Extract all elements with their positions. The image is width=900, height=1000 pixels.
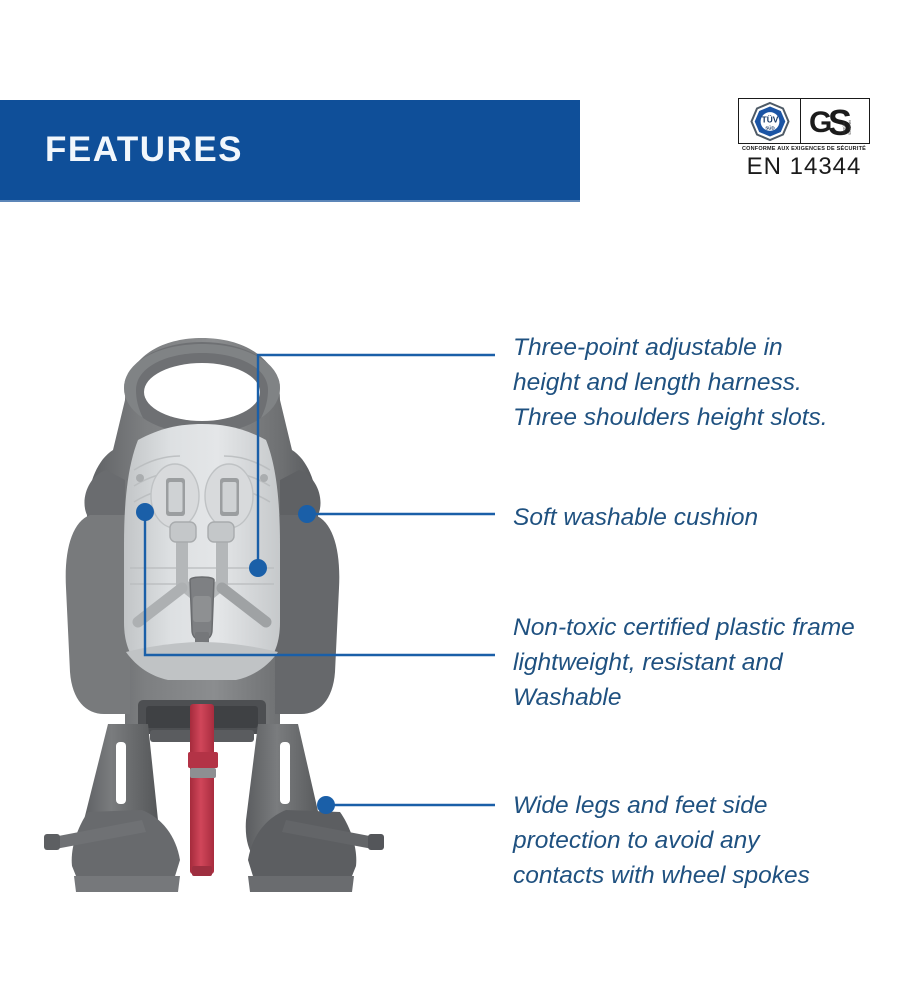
left-footrest: [72, 810, 180, 886]
certification-norm: EN 14344: [736, 153, 872, 181]
callout-line: Three shoulders height slots.: [513, 400, 900, 435]
callout-line: Soft washable cushion: [513, 500, 900, 535]
callout-line: Three-point adjustable in: [513, 330, 900, 365]
callout-text-harness: Three-point adjustable in height and len…: [513, 330, 900, 435]
callout-line: Non-toxic certified plastic frame: [513, 610, 900, 645]
features-header-bar: FEATURES: [0, 100, 580, 202]
callout-line: protection to avoid any: [513, 823, 900, 858]
certification-badge: TÜV SÜD G S Geprüfte Sicherheit CONFORME…: [736, 98, 872, 181]
certification-marks: TÜV SÜD G S Geprüfte Sicherheit: [736, 98, 872, 144]
callout-text-frame: Non-toxic certified plastic frame lightw…: [513, 610, 900, 715]
callout-line: lightweight, resistant and: [513, 645, 900, 680]
callout-line: Washable: [513, 680, 900, 715]
certification-caption: CONFORME AUX EXIGENCES DE SÉCURITÉ: [735, 146, 874, 152]
callout-line: contacts with wheel spokes: [513, 858, 900, 893]
svg-text:SÜD: SÜD: [765, 125, 774, 130]
features-page: FEATURES TÜV SÜD G S Geprüfte Sicherheit: [0, 0, 900, 1000]
svg-text:Sicherheit: Sicherheit: [848, 120, 852, 135]
svg-text:Geprüfte: Geprüfte: [842, 122, 846, 135]
callout-text-cushion: Soft washable cushion: [513, 500, 900, 535]
gs-mark-icon: G S Geprüfte Sicherheit: [800, 98, 870, 144]
product-image-bike-seat: [30, 300, 410, 900]
safety-strap: [190, 704, 214, 874]
callout-line: height and length harness.: [513, 365, 900, 400]
page-title: FEATURES: [45, 130, 243, 170]
callout-text-legs: Wide legs and feet side protection to av…: [513, 788, 900, 893]
tuv-sud-icon: TÜV SÜD: [738, 98, 800, 144]
svg-text:TÜV: TÜV: [762, 115, 779, 125]
callout-line: Wide legs and feet side: [513, 788, 900, 823]
